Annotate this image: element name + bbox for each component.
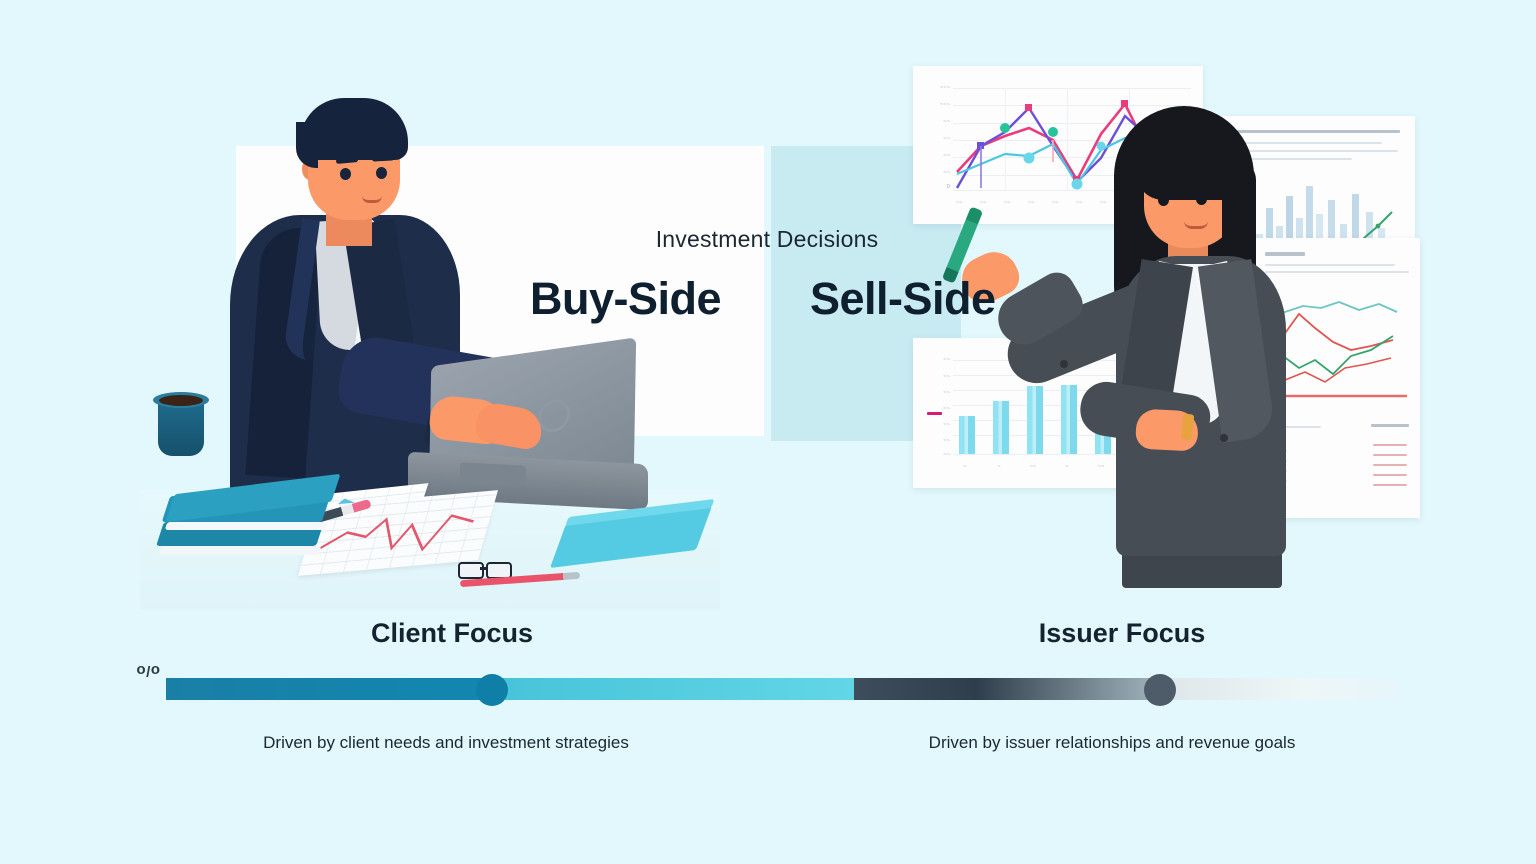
businesswoman-eye-right — [1196, 193, 1207, 205]
slider-right-fill[interactable] — [854, 678, 1160, 700]
client-focus-description: Driven by client needs and investment st… — [146, 733, 746, 753]
issuer-focus-label: Issuer Focus — [922, 618, 1322, 649]
bar-4 — [1061, 385, 1077, 454]
infographic-canvas: — — — ~~~ — [0, 0, 1536, 864]
laptop-trackpad — [460, 462, 526, 483]
buy-side-title: Buy-Side — [530, 273, 721, 325]
issuer-focus-description: Driven by issuer relationships and reven… — [812, 733, 1412, 753]
comparison-slider[interactable] — [166, 676, 1398, 702]
book-bottom-pages — [159, 546, 322, 555]
slider-knob-issuer[interactable] — [1144, 674, 1176, 706]
eyeglasses-icon — [458, 562, 510, 576]
slider-left-rest[interactable] — [494, 678, 854, 700]
client-focus-label: Client Focus — [252, 618, 652, 649]
bar-2 — [993, 401, 1009, 454]
axis-note-label: o/o — [136, 662, 160, 679]
businessman-eye-right — [376, 167, 387, 179]
businessman-eye-left — [340, 168, 351, 180]
blazer-button-lower — [1220, 434, 1228, 442]
slider-left-fill[interactable] — [166, 678, 494, 700]
sell-side-title: Sell-Side — [810, 273, 996, 325]
blazer-button-upper — [1060, 360, 1068, 368]
slider-right-rest[interactable] — [1160, 678, 1398, 700]
coffee-liquid — [159, 395, 203, 406]
bar-3 — [1027, 386, 1043, 454]
businessman-hair — [300, 98, 408, 160]
slider-knob-client[interactable] — [476, 674, 508, 706]
businesswoman-eye-left — [1158, 194, 1169, 206]
kicker-label: Investment Decisions — [656, 226, 879, 253]
book-middle-pages — [165, 522, 328, 530]
bar-1 — [959, 416, 975, 454]
kicker-text: Investment Decisions — [0, 226, 1535, 253]
